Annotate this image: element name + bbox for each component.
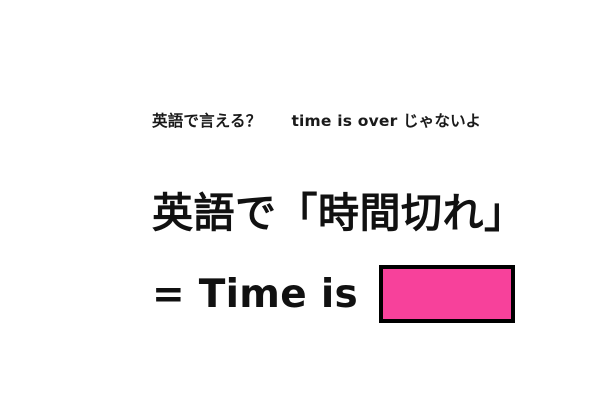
equals-sign: = [152, 275, 185, 314]
prompt-hint: time is over じゃないよ [291, 109, 481, 131]
answer-row: = Time is [152, 266, 515, 322]
prompt-question: 英語で言える？ [152, 109, 261, 131]
redacted-answer-box [379, 265, 515, 323]
headline-japanese: 英語で「時間切れ」 [152, 192, 526, 235]
answer-prefix-text: Time is [199, 275, 358, 314]
quiz-card: 英語で言える？ time is over じゃないよ 英語で「時間切れ」 = T… [0, 0, 610, 400]
prompt-line: 英語で言える？ time is over じゃないよ [152, 109, 481, 131]
